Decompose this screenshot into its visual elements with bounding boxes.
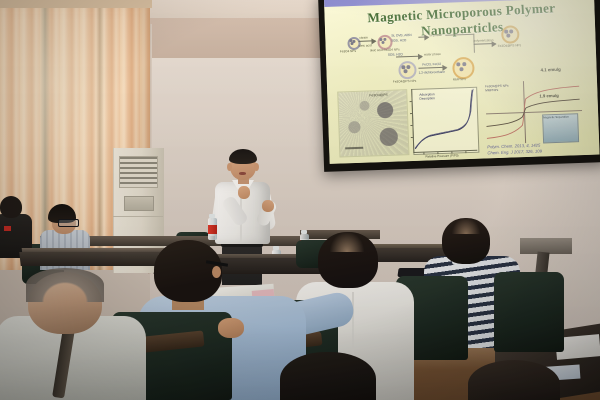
presenter-right-hand xyxy=(262,200,274,212)
presenter-left-ear xyxy=(227,163,232,171)
screen-glare xyxy=(324,0,600,164)
curtain-rail xyxy=(0,0,152,8)
seminar-room-photo: Magnetic Microporous Polymer Nanoparticl… xyxy=(0,0,600,400)
attendee-foreground-right-head xyxy=(468,360,560,400)
attendee-grey-hair xyxy=(26,268,104,302)
air-vent-icon xyxy=(119,156,158,188)
attendee-blue-shirt-hand xyxy=(218,318,244,338)
ac-panel-seam xyxy=(113,216,163,217)
presenter-right-ear xyxy=(254,163,259,171)
ac-control-panel[interactable] xyxy=(124,196,154,211)
bottle-label xyxy=(208,225,217,234)
attendee-white-shirt-scalp xyxy=(330,232,364,252)
mid-row-table xyxy=(19,252,170,266)
eyeglasses-icon xyxy=(58,219,79,227)
attendee-badge xyxy=(4,226,11,231)
presenter-mouth xyxy=(239,172,246,175)
attendee-striped-scalp xyxy=(452,218,480,234)
attendee-foreground-back-head xyxy=(280,352,376,400)
attendee-dark-shirt-head xyxy=(0,196,22,218)
presenter-left-hand xyxy=(238,186,250,199)
projection-screen: Magnetic Microporous Polymer Nanoparticl… xyxy=(324,0,600,164)
chair-far-right-front[interactable] xyxy=(494,272,564,352)
presenter-hair xyxy=(229,149,257,164)
attendee-blue-shirt-ear xyxy=(212,266,221,278)
